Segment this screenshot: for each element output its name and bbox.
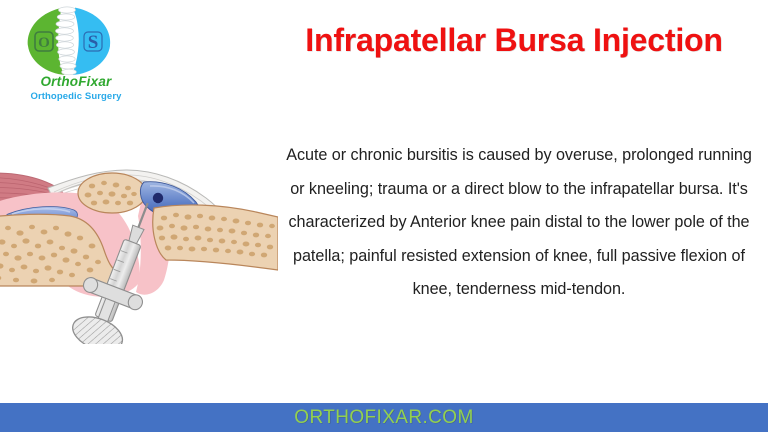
brand-logo[interactable]: O S OrthoFixar Orthopedic Surgery [8, 4, 178, 108]
svg-text:O: O [38, 35, 50, 51]
svg-text:S: S [88, 32, 99, 53]
site-footer-url: ORTHOFIXAR.COM [294, 407, 473, 429]
sagittal-knee-injection-diagram [0, 158, 278, 344]
orthofixar-logo-icon: O S [16, 4, 120, 78]
patella-bone [78, 173, 146, 213]
page-title: Infrapatellar Bursa Injection [268, 22, 760, 59]
description-paragraph: Acute or chronic bursitis is caused by o… [282, 139, 756, 307]
injection-site-dot [153, 193, 163, 203]
logo-tagline: Orthopedic Surgery [8, 91, 144, 102]
logo-wordmark: OrthoFixar [8, 74, 144, 89]
site-footer[interactable]: ORTHOFIXAR.COM [0, 403, 768, 432]
tibia-bone [153, 205, 278, 270]
